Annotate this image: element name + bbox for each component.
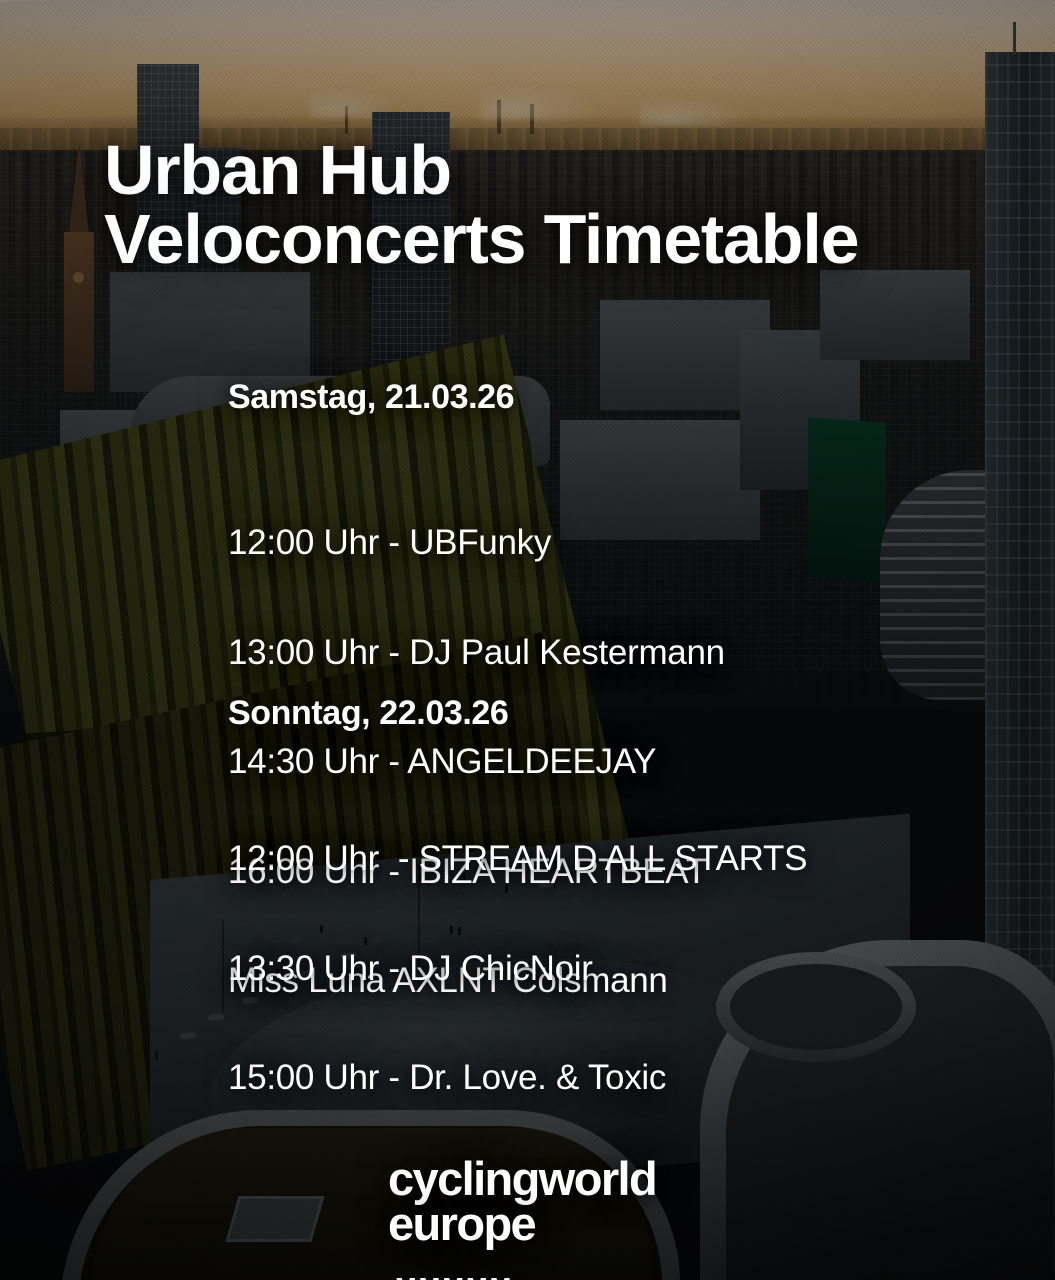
brand-logo: cyclingworld europe [388,1156,656,1246]
title-line-1: Urban Hub [104,136,984,205]
schedule-row: 13:00 Uhr - DJ Paul Kestermann [228,635,1048,672]
logo-line-2: europe [388,1201,656,1246]
schedule-row: 15:00 Uhr - Dr. Love. & Toxic [228,1060,1048,1097]
schedule-row: 12:00 Uhr - STREAM D ALL STARTS [228,841,1048,878]
logo-line-1: cyclingworld [388,1156,656,1201]
page-title: Urban Hub Veloconcerts Timetable [104,136,984,275]
poster: Urban Hub Veloconcerts Timetable Samstag… [0,0,1055,1280]
title-line-2: Veloconcerts Timetable [104,205,984,274]
bottom-cut-off-text: MMMMM [395,1272,645,1280]
schedule-row: 12:00 Uhr - UBFunky [228,525,1048,562]
schedule-row: 13:30 Uhr - DJ ChicNoir [228,951,1048,988]
schedule-list-sunday: 12:00 Uhr - STREAM D ALL STARTS 13:30 Uh… [228,768,1048,1170]
day-heading-saturday: Samstag, 21.03.26 [228,378,514,417]
day-heading-sunday: Sonntag, 22.03.26 [228,694,508,733]
poster-content: Urban Hub Veloconcerts Timetable Samstag… [0,0,1055,1280]
